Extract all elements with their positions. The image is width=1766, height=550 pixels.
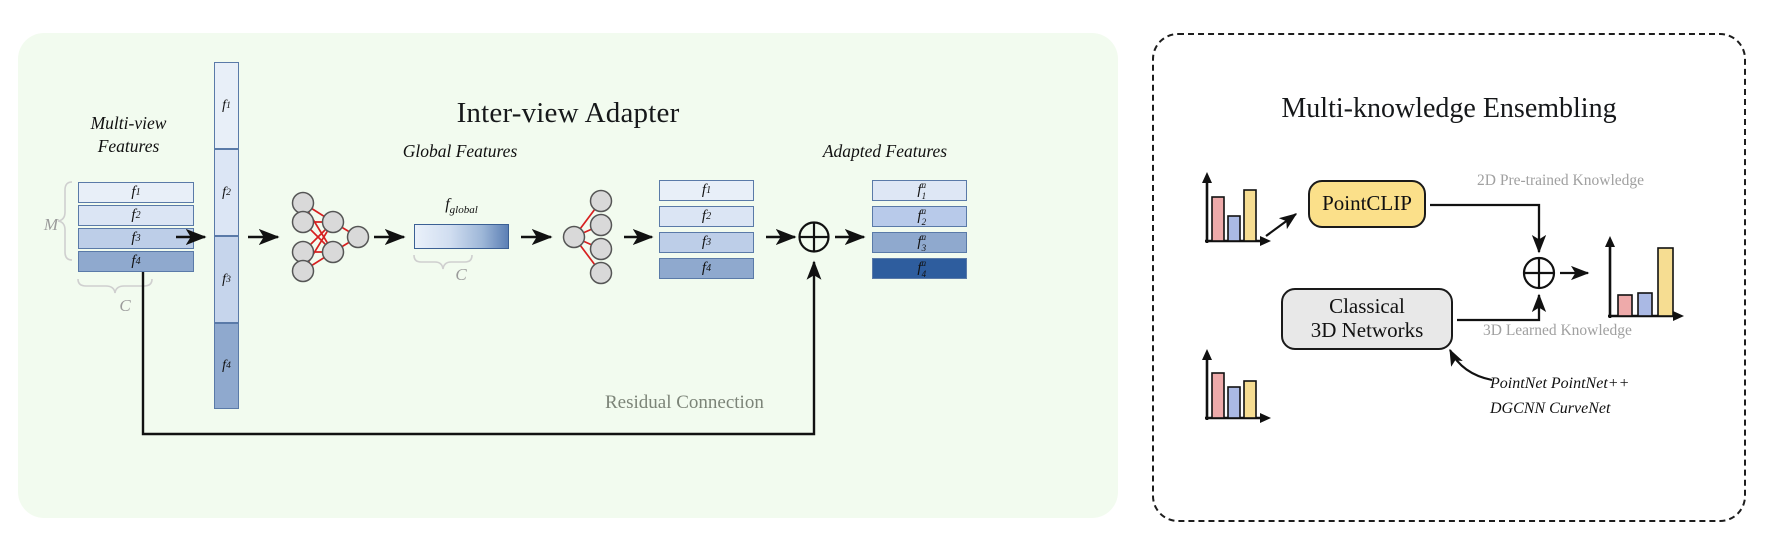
feature-bar: f4: [78, 251, 194, 272]
diagram-canvas: Inter-view Adapter Multi-view Features f…: [0, 0, 1766, 550]
classical-3d-networks-box[interactable]: Classical 3D Networks: [1281, 288, 1453, 350]
caption-multi-view-features: Multi-view Features: [36, 112, 221, 158]
panel-title-ensembling: Multi-knowledge Ensembling: [1154, 93, 1744, 125]
dim-label-rows: M: [40, 215, 62, 235]
feature-bar: f1: [78, 182, 194, 203]
feature-bar: f2: [78, 205, 194, 226]
label-2d-pretrained-knowledge: 2D Pre-trained Knowledge: [1477, 172, 1644, 190]
multi-knowledge-ensembling-panel: Multi-knowledge Ensembling: [1152, 33, 1746, 522]
feature-bar: fa3: [872, 232, 967, 253]
feature-bar: f1: [659, 180, 754, 201]
feature-bar: fa1: [872, 180, 967, 201]
dim-label-global-cols: C: [450, 265, 472, 285]
feature-bar: f4: [659, 258, 754, 279]
global-feature-bar: [414, 224, 509, 249]
feature-bar: fa2: [872, 206, 967, 227]
dim-label-cols: C: [114, 296, 136, 316]
feature-segment: f3: [214, 236, 239, 323]
feature-segment: f1: [214, 62, 239, 149]
network-names-list: PointNet PointNet++ DGCNN CurveNet: [1490, 372, 1629, 422]
feature-bar: f3: [78, 228, 194, 249]
feature-bar: f3: [659, 232, 754, 253]
caption-global-features: Global Features: [355, 140, 565, 163]
feature-segment: f4: [214, 323, 239, 409]
pointclip-box[interactable]: PointCLIP: [1308, 180, 1426, 228]
feature-bar: fa4: [872, 258, 967, 279]
residual-connection-label: Residual Connection: [605, 392, 764, 414]
feature-bar: f2: [659, 206, 754, 227]
concatenated-feature-column: f1 f2 f3 f4: [214, 62, 239, 409]
global-feature-label: fglobal: [414, 196, 509, 216]
label-3d-learned-knowledge: 3D Learned Knowledge: [1483, 322, 1632, 340]
caption-adapted-features: Adapted Features: [790, 140, 980, 163]
feature-segment: f2: [214, 149, 239, 236]
